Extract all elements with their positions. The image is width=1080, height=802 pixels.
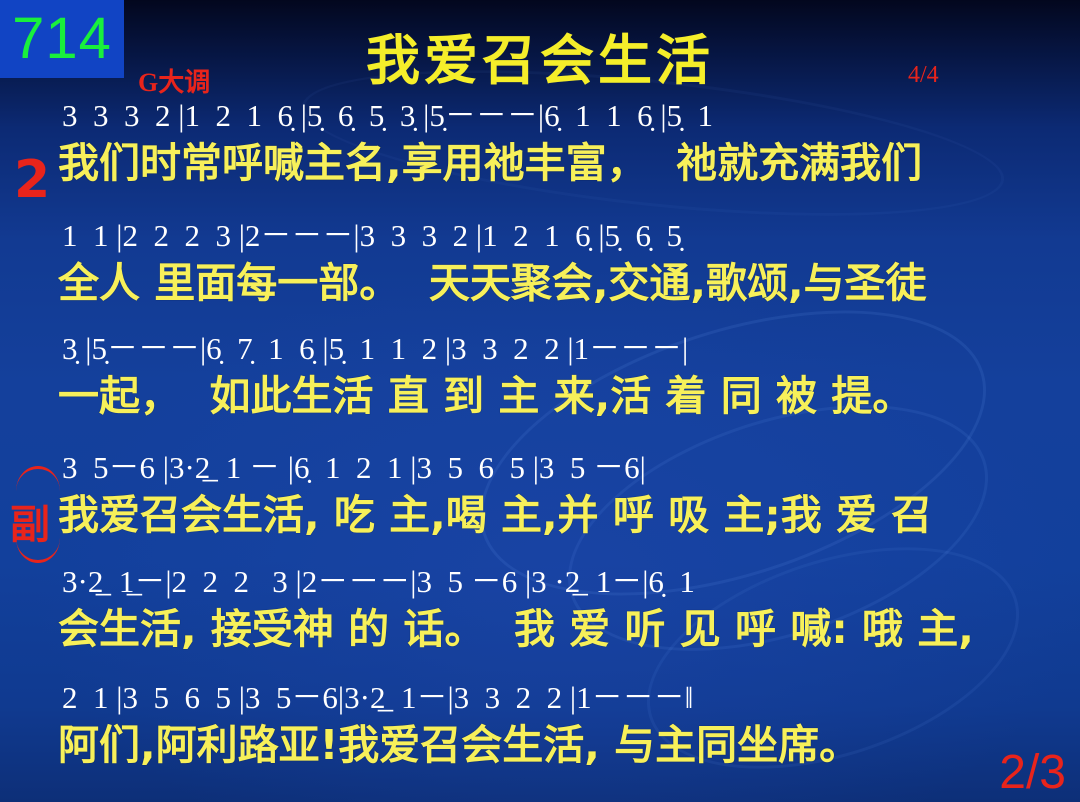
music-system-4: 3 5－6 |3·2̲ 1 － |6̣ 1 2 1 |3 5 6 5 |3 5 … (0, 452, 1080, 546)
notation-line: 3 5－6 |3·2̲ 1 － |6̣ 1 2 1 |3 5 6 5 |3 5 … (0, 452, 1080, 494)
song-slide: 714 G大调 我爱召会生活 4/4 2 副 3 3 3 2 |1 2 1 6̣… (0, 0, 1080, 802)
notation-line: 1 1 |2 2 2 3 |2－－－|3 3 3 2 |1 2 1 6̣ |5̣… (0, 220, 1080, 262)
lyrics-line: 一起， 如此生活 直 到 主 来,活 着 同 被 提。 (0, 375, 1080, 427)
lyrics-line: 会生活, 接受神 的 话。 我 爱 听 见 呼 喊: 哦 主, (0, 608, 1080, 660)
time-signature: 4/4 (908, 62, 939, 89)
notation-line: 2 1 |3 5 6 5 |3 5－6|3·2̲ 1－|3 3 2 2 |1－－… (0, 682, 1080, 724)
music-system-2: 1 1 |2 2 2 3 |2－－－|3 3 3 2 |1 2 1 6̣ |5̣… (0, 220, 1080, 314)
music-system-5: 3·2̲ 1̲－|2 2 2 3 |2－－－|3 5 －6 |3 ·2̲ 1－|… (0, 566, 1080, 660)
page-indicator: 2/3 (999, 745, 1066, 800)
lyrics-line: 我们时常呼喊主名,享用祂丰富， 祂就充满我们 (0, 142, 1080, 194)
music-system-3: 3̣ |5̣－－－|6̣ 7̣ 1 6̣ |5̣ 1 1 2 |3 3 2 2 … (0, 333, 1080, 427)
notation-line: 3·2̲ 1̲－|2 2 2 3 |2－－－|3 5 －6 |3 ·2̲ 1－|… (0, 566, 1080, 608)
music-system-6: 2 1 |3 5 6 5 |3 5－6|3·2̲ 1－|3 3 2 2 |1－－… (0, 682, 1080, 776)
lyrics-line: 全人 里面每一部。 天天聚会,交通,歌颂,与圣徒 (0, 262, 1080, 314)
music-system-1: 3 3 3 2 |1 2 1 6̣ |5̣ 6̣ 5̣ 3̣ |5̣－－－|6̣… (0, 100, 1080, 194)
lyrics-line: 我爱召会生活, 吃 主,喝 主,并 呼 吸 主;我 爱 召 (0, 494, 1080, 546)
notation-line: 3̣ |5̣－－－|6̣ 7̣ 1 6̣ |5̣ 1 1 2 |3 3 2 2 … (0, 333, 1080, 375)
notation-line: 3 3 3 2 |1 2 1 6̣ |5̣ 6̣ 5̣ 3̣ |5̣－－－|6̣… (0, 100, 1080, 142)
lyrics-line: 阿们,阿利路亚!我爱召会生活, 与主同坐席。 (0, 724, 1080, 776)
